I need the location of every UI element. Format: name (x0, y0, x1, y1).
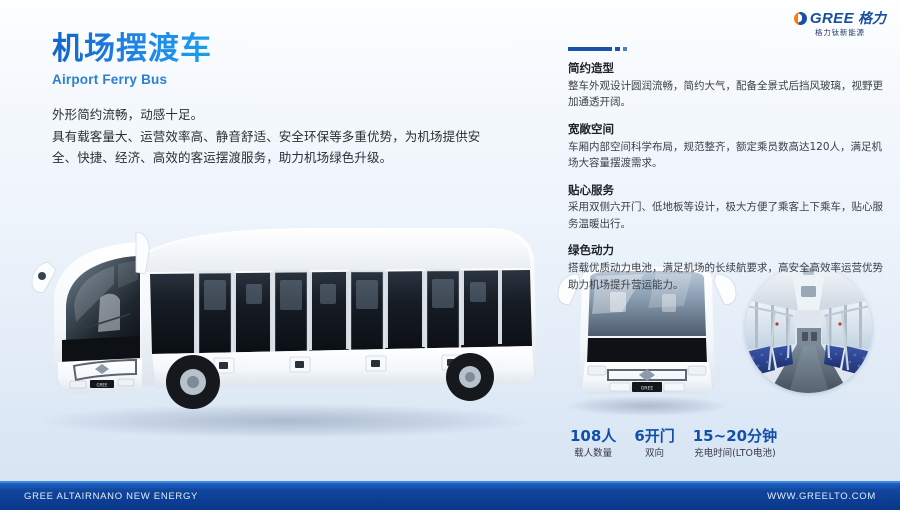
spec-value: 108人 (570, 427, 616, 445)
spec-item-capacity: 108人 载人数量 (570, 427, 616, 459)
footer-website[interactable]: WWW.GREELTO.COM (767, 491, 876, 502)
divider-square-2 (623, 47, 627, 51)
slide-canvas: GREE 格力 格力钛新能源 机场摆渡车 Airport Ferry Bus 外… (0, 0, 900, 510)
svg-text:GREE: GREE (641, 386, 654, 392)
feature-item: 绿色动力 搭载优质动力电池，满足机场的长续航要求，高安全高效率运营优势助力机场提… (568, 242, 890, 293)
spec-item-charging: 15~20分钟 充电时间(LTO电池) (693, 427, 777, 459)
intro-paragraph: 外形简约流畅，动感十足。 具有载客量大、运营效率高、静音舒适、安全环保等多重优势… (52, 104, 492, 169)
brand-logo: GREE 格力 格力钛新能源 (794, 11, 886, 37)
logo-wordmark-row: GREE 格力 (794, 11, 886, 26)
footer-bar: GREE ALTAIRNANO NEW ENERGY WWW.GREELTO.C… (0, 481, 900, 510)
page-subtitle: Airport Ferry Bus (52, 72, 212, 87)
gree-swirl-icon (794, 12, 807, 25)
page-title-block: 机场摆渡车 Airport Ferry Bus (52, 32, 212, 87)
spec-label: 双向 (634, 448, 674, 459)
feature-heading: 宽敞空间 (568, 121, 890, 138)
spec-value: 6开门 (634, 427, 674, 445)
feature-item: 贴心服务 采用双侧六开门、低地板等设计，极大方便了乘客上下乘车，贴心服务温暖出行… (568, 182, 890, 233)
feature-list: 简约造型 整车外观设计圆润流畅，简约大气，配备全景式后挡风玻璃，视野更加通透开阔… (568, 47, 890, 293)
spec-label: 载人数量 (570, 448, 616, 459)
spec-value: 15~20分钟 (693, 427, 777, 445)
feature-item: 简约造型 整车外观设计圆润流畅，简约大气，配备全景式后挡风玻璃，视野更加通透开阔… (568, 60, 890, 111)
divider-bar (568, 47, 612, 51)
logo-cn-mark: 格力 (858, 12, 886, 26)
logo-word: GREE (810, 11, 854, 26)
section-divider (568, 47, 890, 51)
logo-subtitle: 格力钛新能源 (815, 29, 865, 37)
divider-square-1 (615, 47, 620, 51)
feature-item: 宽敞空间 车厢内部空间科学布局，规范整齐，额定乘员数高达120人，满足机场大容量… (568, 121, 890, 172)
feature-heading: 贴心服务 (568, 182, 890, 199)
main-bus-image: GREE (18, 214, 548, 439)
feature-body: 车厢内部空间科学布局，规范整齐，额定乘员数高达120人，满足机场大容量摆渡需求。 (568, 139, 890, 172)
feature-heading: 简约造型 (568, 60, 890, 77)
page-title: 机场摆渡车 (52, 32, 212, 68)
spec-item-doors: 6开门 双向 (634, 427, 674, 459)
spec-label: 充电时间(LTO电池) (693, 448, 777, 459)
feature-body: 整车外观设计圆润流畅，简约大气，配备全景式后挡风玻璃，视野更加通透开阔。 (568, 78, 890, 111)
feature-body: 采用双侧六开门、低地板等设计，极大方便了乘客上下乘车，贴心服务温暖出行。 (568, 199, 890, 232)
feature-body: 搭载优质动力电池，满足机场的长续航要求，高安全高效率运营优势助力机场提升营运能力… (568, 260, 890, 293)
footer-company: GREE ALTAIRNANO NEW ENERGY (24, 491, 198, 502)
svg-text:GREE: GREE (97, 382, 108, 387)
feature-heading: 绿色动力 (568, 242, 890, 259)
spec-stats: 108人 载人数量 6开门 双向 15~20分钟 充电时间(LTO电池) (570, 427, 777, 459)
